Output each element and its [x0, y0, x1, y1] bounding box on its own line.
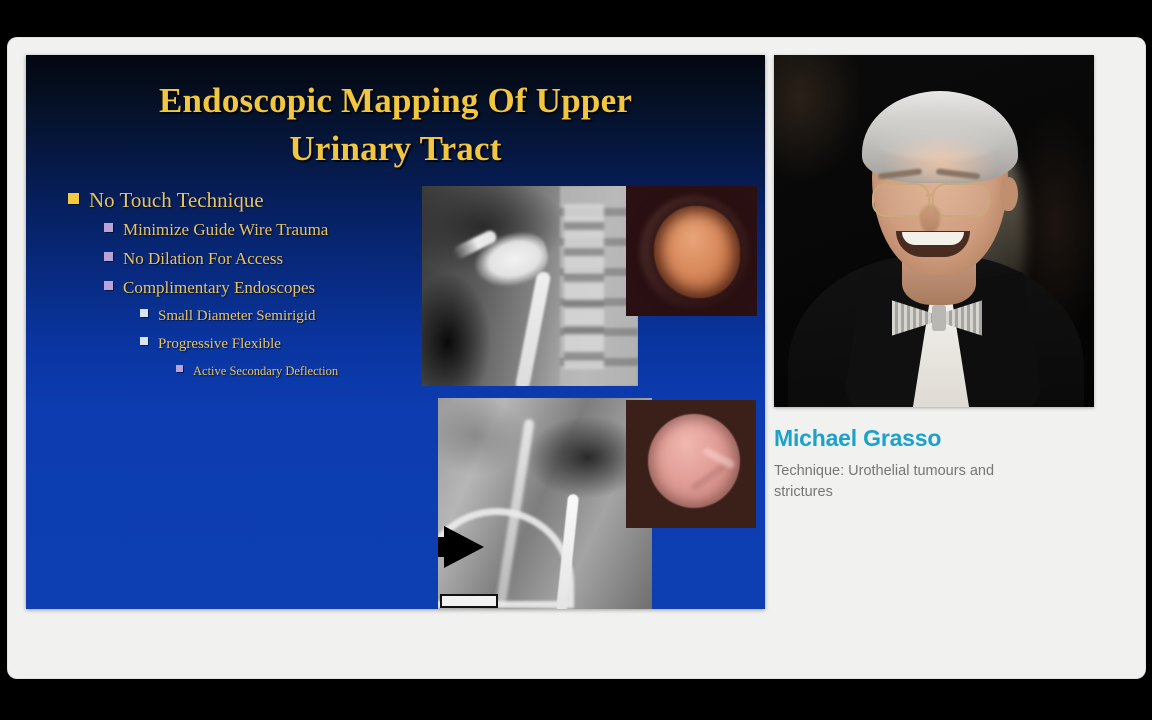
- eyeglasses-bridge: [926, 194, 934, 197]
- bullet-marker-square-icon: [140, 337, 148, 345]
- bullet-text: No Touch Technique: [89, 186, 264, 214]
- figure-endoscopic-view-urothelial-tumour: [626, 186, 757, 316]
- bullet-text: Progressive Flexible: [158, 331, 281, 357]
- bullet-item-level2: Complimentary Endoscopes: [104, 274, 428, 301]
- bullet-text: Minimize Guide Wire Trauma: [123, 216, 328, 243]
- letterbox-bar-bottom: [0, 679, 1152, 720]
- bullet-marker-square-icon: [140, 309, 148, 317]
- speaker-description: Technique: Urothelial tumours and strict…: [774, 461, 1052, 503]
- urothelial-tumour: [654, 206, 740, 298]
- bullet-marker-square-icon: [104, 252, 113, 261]
- speaker-name: Michael Grasso: [774, 424, 1094, 452]
- bullet-item-level2: Minimize Guide Wire Trauma: [104, 216, 428, 243]
- bullet-item-level1: No Touch Technique: [68, 186, 428, 214]
- teeth: [902, 232, 964, 245]
- bullet-item-level3: Small Diameter Semirigid: [140, 303, 428, 329]
- speaker-photo: [774, 55, 1094, 407]
- eyeglasses-lens-right: [932, 183, 990, 217]
- figure-retrograde-pyelogram-ureter-stent: [438, 398, 652, 609]
- bullet-marker-square-icon: [104, 223, 113, 232]
- bullet-marker-square-icon: [104, 281, 113, 290]
- bullet-text: Active Secondary Deflection: [193, 359, 338, 383]
- radiograph-scale-bar: [440, 594, 498, 608]
- figure-endoscopic-view-ureteral-stricture: [626, 400, 756, 528]
- letterbox-bar-top: [0, 0, 1152, 36]
- bullet-item-level3: Progressive Flexible: [140, 331, 428, 357]
- bullet-item-level4: Active Secondary Deflection: [176, 359, 428, 383]
- video-stage: Endoscopic Mapping Of Upper Urinary Trac…: [0, 0, 1152, 720]
- figure-retrograde-pyelogram-upper-tract: [422, 186, 638, 386]
- bullet-text: No Dilation For Access: [123, 245, 283, 272]
- bullet-item-level2: No Dilation For Access: [104, 245, 428, 272]
- bullet-marker-square-icon: [176, 365, 183, 372]
- bow-tie-knot: [932, 305, 946, 331]
- slide-title: Endoscopic Mapping Of Upper Urinary Trac…: [26, 77, 765, 173]
- mucosal-fold: [690, 463, 727, 492]
- bullet-text: Small Diameter Semirigid: [158, 303, 315, 329]
- speaker-panel: Michael Grasso Technique: Urothelial tum…: [774, 55, 1094, 503]
- vertebral-detail-shadow: [564, 204, 604, 369]
- bullet-marker-square-icon: [68, 193, 79, 204]
- slide-canvas[interactable]: Endoscopic Mapping Of Upper Urinary Trac…: [26, 55, 765, 609]
- nose: [920, 205, 940, 233]
- arrow-marker-icon: [444, 526, 484, 568]
- presentation-card: Endoscopic Mapping Of Upper Urinary Trac…: [8, 38, 1145, 678]
- bullet-text: Complimentary Endoscopes: [123, 274, 315, 301]
- ureteral-mucosa: [648, 414, 740, 508]
- slide-bullet-list: No Touch Technique Minimize Guide Wire T…: [68, 186, 428, 385]
- ear: [1000, 177, 1018, 211]
